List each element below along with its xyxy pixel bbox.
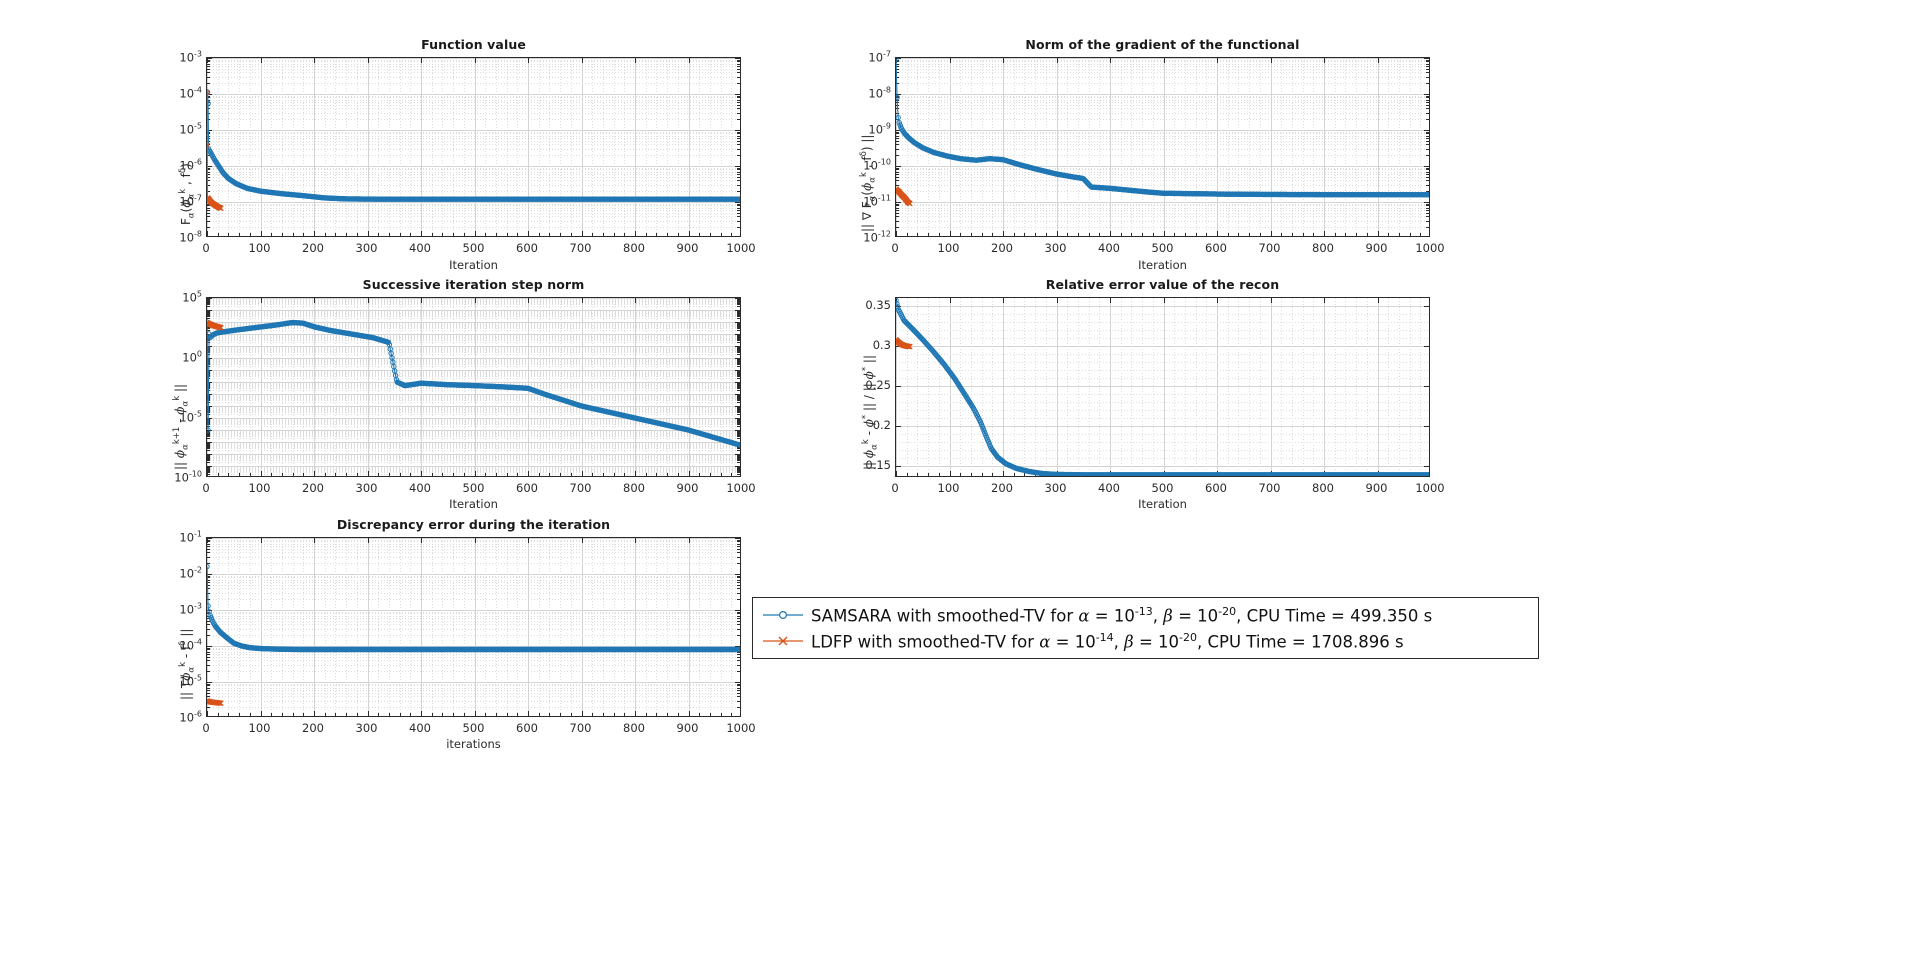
x-tick-label: 200	[302, 721, 324, 735]
series-ldfp	[206, 698, 223, 705]
series-layer	[207, 538, 741, 717]
legend[interactable]: SAMSARA with smoothed-TV for α = 10-13, …	[752, 597, 1539, 659]
x-tick-label: 400	[1098, 481, 1120, 495]
x-tick-label: 1000	[1415, 481, 1444, 495]
x-tick-label: 300	[356, 481, 378, 495]
x-axis-title: iterations	[206, 737, 741, 751]
subplot-discrepancy-error: Discrepancy error during the iteration	[206, 537, 741, 717]
y-tick-label: 10-10	[164, 470, 202, 485]
x-tick-label: 1000	[726, 721, 755, 735]
legend-label: LDFP with smoothed-TV for α = 10-14, β =…	[811, 631, 1404, 652]
x-tick-label: 100	[249, 241, 271, 255]
series-samsara	[895, 57, 1430, 197]
x-tick-label: 100	[249, 721, 271, 735]
subplot-gradient-norm: Norm of the gradient of the functional	[895, 57, 1430, 237]
x-tick-label: 400	[409, 721, 431, 735]
y-tick-label: 10-8	[164, 230, 202, 245]
y-tick-label: 10-6	[164, 710, 202, 725]
series-samsara	[206, 320, 741, 448]
x-tick-label: 700	[1259, 241, 1281, 255]
x-axis-title: Iteration	[895, 258, 1430, 272]
x-tick-label: 100	[938, 241, 960, 255]
y-tick-label: 10-7	[164, 194, 202, 209]
x-tick-label: 0	[202, 721, 209, 735]
y-tick-label: 10-1	[164, 530, 202, 545]
x-tick-label: 900	[1366, 481, 1388, 495]
x-tick-label: 200	[991, 241, 1013, 255]
series-samsara	[206, 90, 741, 202]
x-tick-label: 100	[249, 481, 271, 495]
x-tick-label: 400	[409, 241, 431, 255]
x-tick-label: 300	[1045, 481, 1067, 495]
y-tick-label: 0.2	[853, 418, 891, 432]
x-tick-label: 300	[356, 241, 378, 255]
y-tick-label: 100	[164, 350, 202, 365]
x-tick-label: 100	[938, 481, 960, 495]
plot-area	[895, 57, 1430, 237]
subplot-title: Function value	[206, 37, 741, 52]
x-tick-label: 900	[1366, 241, 1388, 255]
cross-marker-icon	[761, 633, 805, 649]
x-tick-label: 300	[1045, 241, 1067, 255]
subplot-function-value: Function value	[206, 57, 741, 237]
y-tick-label: 0.15	[853, 458, 891, 472]
subplot-step-norm: Successive iteration step norm	[206, 297, 741, 477]
x-tick-label: 1000	[726, 241, 755, 255]
y-tick-label: 10-7	[853, 50, 891, 65]
y-tick-label: 10-5	[164, 122, 202, 137]
x-tick-label: 600	[1205, 241, 1227, 255]
matlab-figure: Function value Iteration Fα(ϕαk , fδ) No…	[0, 0, 1920, 976]
x-tick-label: 800	[623, 721, 645, 735]
x-tick-label: 600	[1205, 481, 1227, 495]
plot-area	[895, 297, 1430, 477]
series-ldfp	[895, 187, 912, 206]
y-tick-label: 10-2	[164, 566, 202, 581]
x-tick-label: 200	[302, 481, 324, 495]
series-samsara	[895, 298, 1430, 477]
y-tick-label: 10-5	[164, 410, 202, 425]
subplot-title: Relative error value of the recon	[895, 277, 1430, 292]
legend-entry[interactable]: LDFP with smoothed-TV for α = 10-14, β =…	[761, 628, 1530, 654]
x-tick-label: 800	[1312, 481, 1334, 495]
plot-area	[206, 57, 741, 237]
x-tick-label: 0	[891, 481, 898, 495]
x-tick-label: 1000	[1415, 241, 1444, 255]
y-tick-label: 10-10	[853, 158, 891, 173]
x-tick-label: 800	[623, 241, 645, 255]
x-tick-label: 900	[677, 481, 699, 495]
x-tick-label: 600	[516, 721, 538, 735]
y-axis-title: || ϕαk - ϕ* || / || ϕ* ||	[861, 355, 879, 470]
series-layer	[896, 298, 1430, 477]
x-tick-label: 0	[202, 481, 209, 495]
x-tick-label: 700	[570, 241, 592, 255]
x-axis-title: Iteration	[206, 497, 741, 511]
x-tick-label: 500	[463, 721, 485, 735]
legend-label: SAMSARA with smoothed-TV for α = 10-13, …	[811, 605, 1432, 626]
x-tick-label: 700	[570, 721, 592, 735]
plot-area	[206, 537, 741, 717]
plot-area	[206, 297, 741, 477]
x-axis-title: Iteration	[895, 497, 1430, 511]
y-tick-label: 10-11	[853, 194, 891, 209]
y-tick-label: 10-3	[164, 602, 202, 617]
subplot-relative-error: Relative error value of the recon	[895, 297, 1430, 477]
x-tick-label: 500	[1152, 241, 1174, 255]
y-axis-title: || ∇ Fα(ϕαk , fδ) ||	[859, 135, 877, 232]
x-tick-label: 700	[1259, 481, 1281, 495]
y-tick-label: 10-9	[853, 122, 891, 137]
series-layer	[207, 58, 741, 237]
y-tick-label: 10-4	[164, 86, 202, 101]
legend-entry[interactable]: SAMSARA with smoothed-TV for α = 10-13, …	[761, 602, 1530, 628]
x-tick-label: 800	[1312, 241, 1334, 255]
x-tick-label: 800	[623, 481, 645, 495]
y-tick-label: 10-12	[853, 230, 891, 245]
subplot-title: Successive iteration step norm	[206, 277, 741, 292]
x-tick-label: 0	[202, 241, 209, 255]
x-axis-title: Iteration	[206, 258, 741, 272]
y-tick-label: 10-8	[853, 86, 891, 101]
y-tick-label: 10-3	[164, 50, 202, 65]
x-tick-label: 600	[516, 481, 538, 495]
y-tick-label: 10-4	[164, 638, 202, 653]
x-tick-label: 1000	[726, 481, 755, 495]
y-axis-title: || ϕαk+1 - ϕαk ||	[172, 384, 190, 470]
series-ldfp	[895, 337, 912, 349]
series-layer	[896, 58, 1430, 237]
y-tick-label: 10-6	[164, 158, 202, 173]
subplot-title: Norm of the gradient of the functional	[895, 37, 1430, 52]
series-samsara	[206, 564, 741, 651]
y-tick-label: 0.3	[853, 338, 891, 352]
y-tick-label: 0.35	[853, 298, 891, 312]
series-layer	[207, 298, 741, 477]
x-tick-label: 900	[677, 241, 699, 255]
x-tick-label: 200	[991, 481, 1013, 495]
x-tick-label: 600	[516, 241, 538, 255]
x-tick-label: 500	[1152, 481, 1174, 495]
x-tick-label: 0	[891, 241, 898, 255]
x-tick-label: 500	[463, 241, 485, 255]
x-tick-label: 900	[677, 721, 699, 735]
x-tick-label: 200	[302, 241, 324, 255]
circle-marker-icon	[761, 607, 805, 623]
x-tick-label: 300	[356, 721, 378, 735]
y-tick-label: 10-5	[164, 674, 202, 689]
y-tick-label: 0.25	[853, 378, 891, 392]
subplot-title: Discrepancy error during the iteration	[206, 517, 741, 532]
x-tick-label: 400	[1098, 241, 1120, 255]
y-tick-label: 105	[164, 290, 202, 305]
x-tick-label: 700	[570, 481, 592, 495]
x-tick-label: 500	[463, 481, 485, 495]
x-tick-label: 400	[409, 481, 431, 495]
series-ldfp	[206, 320, 223, 330]
